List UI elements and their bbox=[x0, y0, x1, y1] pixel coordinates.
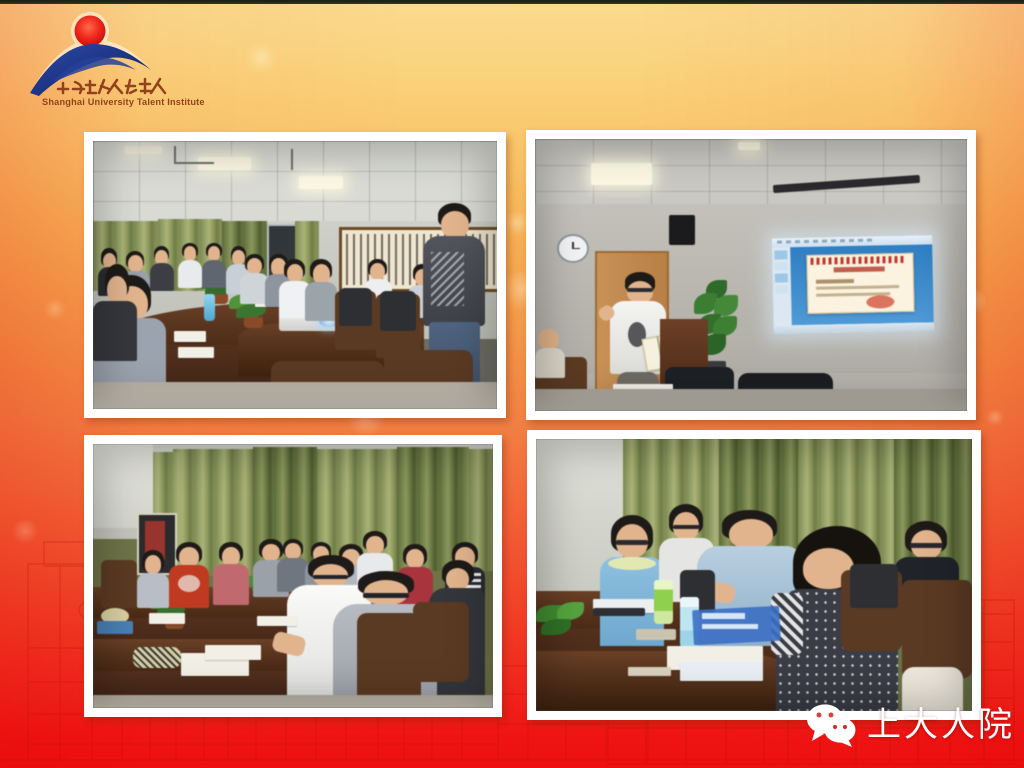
wechat-label: 上大人院 bbox=[867, 708, 1015, 742]
photo-1-classroom-lecture[interactable] bbox=[84, 132, 506, 418]
logo-chinese-strokes bbox=[58, 79, 165, 93]
photo-4-image bbox=[536, 439, 972, 711]
logo-sun bbox=[75, 16, 106, 47]
photo-3-image bbox=[93, 444, 493, 708]
photo-3-audience-listening[interactable] bbox=[84, 435, 502, 717]
institute-logo: Shanghai University Talent Institute bbox=[18, 10, 223, 110]
photo-4-students-close-up[interactable] bbox=[527, 430, 981, 720]
photo-2-speaker-with-slide[interactable] bbox=[526, 130, 976, 420]
photo-2-image bbox=[535, 139, 967, 411]
wechat-icon bbox=[806, 703, 858, 747]
top-edge-strip bbox=[0, 0, 1024, 4]
wechat-watermark: 上大人院 bbox=[806, 694, 1021, 756]
photo-1-image bbox=[93, 141, 497, 409]
logo-english-name: Shanghai University Talent Institute bbox=[42, 97, 205, 107]
collage-slide: Shanghai University Talent Institute bbox=[0, 0, 1024, 768]
